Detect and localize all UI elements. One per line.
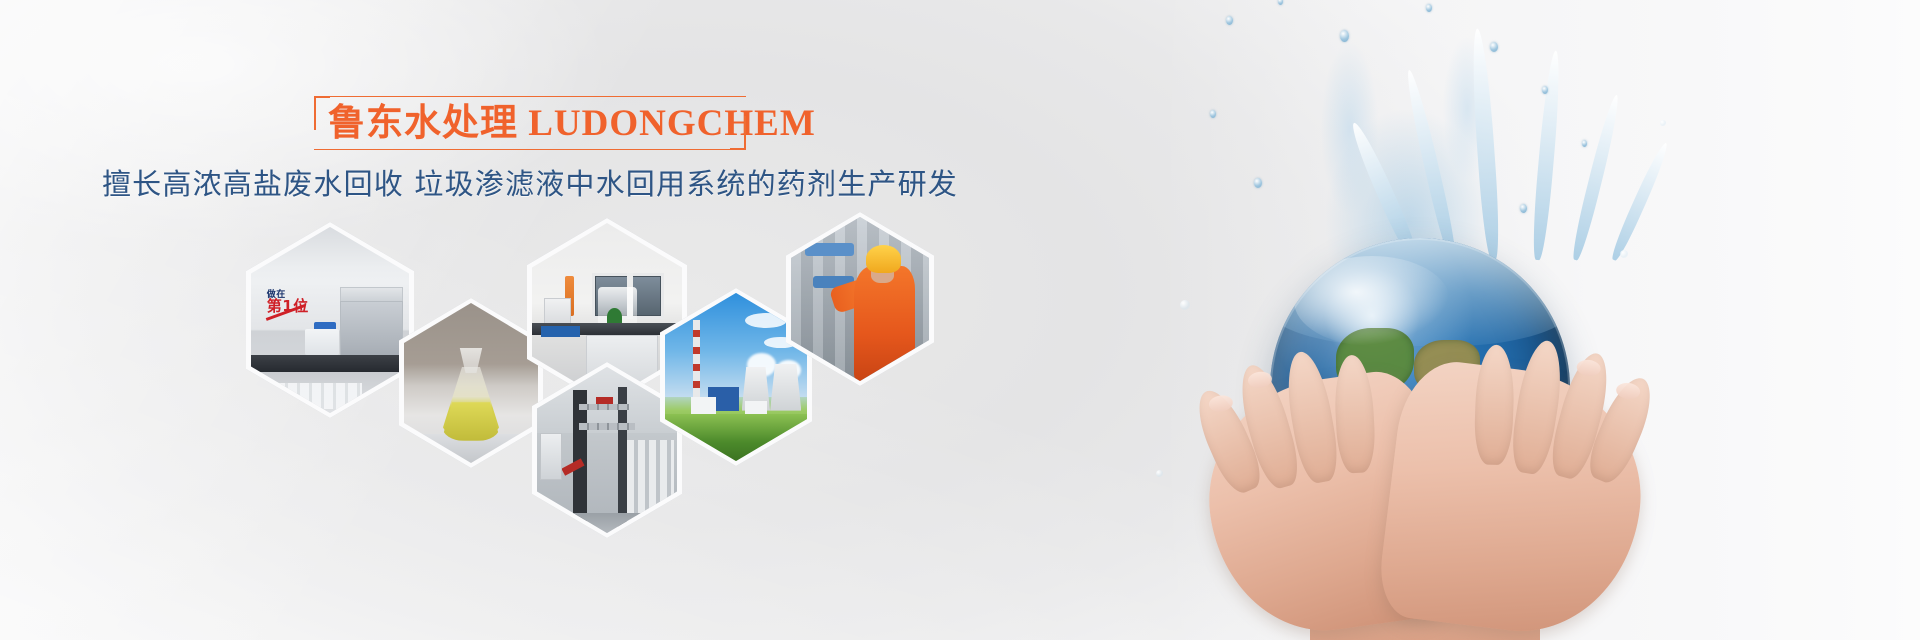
bubble (1180, 300, 1190, 310)
red-valve-shape (596, 397, 613, 404)
ceiling-shape (251, 227, 409, 268)
splash-finger (1402, 68, 1460, 261)
worker-coverall-shape (854, 266, 915, 381)
white-instrument-shape (305, 329, 340, 355)
page-title: 鲁东水处理 LUDONGCHEM (328, 102, 732, 146)
white-building-shape (691, 397, 717, 414)
bracket-bottom-right-icon (730, 116, 746, 150)
pipe-run-shape (579, 404, 629, 411)
safety-helmet-shape (866, 245, 902, 273)
title-frame-bottom-rule (314, 149, 732, 150)
bracket-top-left-icon (314, 96, 330, 130)
water-droplet (1520, 204, 1527, 213)
control-panel-shape (540, 433, 562, 479)
hero-banner: 鲁东水处理 LUDONGCHEM 擅长高浓高盐废水回收 垃圾渗滤液中水回用系统的… (0, 0, 1920, 640)
title-frame-top-rule (328, 96, 746, 97)
hex-tile-laboratory-room[interactable]: 做在 第1位 (246, 222, 414, 418)
banner-text-block: 鲁东水处理 LUDONGCHEM 擅长高浓高盐废水回收 垃圾渗滤液中水回用系统的… (0, 96, 1060, 204)
hands-water-globe-illustration (1060, 0, 1920, 640)
water-droplet (1210, 110, 1216, 118)
splash-finger (1609, 141, 1672, 263)
wall-slogan: 做在 第1位 (267, 290, 343, 327)
membrane-vessels-shape (627, 440, 675, 516)
splash-finger (1569, 93, 1623, 261)
water-droplet (1490, 42, 1498, 52)
banner-subtitle: 擅长高浓高盐废水回收 垃圾渗滤液中水回用系统的药剂生产研发 (0, 164, 1060, 204)
lab-bench-shape (251, 355, 409, 372)
bubble (1660, 120, 1666, 126)
water-droplet (1426, 4, 1432, 12)
splash-crown (1390, 10, 1670, 260)
splash-finger (1469, 28, 1502, 261)
blue-cabinet-shape (541, 326, 580, 337)
right-hand (1375, 356, 1655, 640)
banner-title-frame: 鲁东水处理 LUDONGCHEM (314, 96, 746, 150)
floor-shape (537, 513, 677, 533)
water-droplet (1582, 140, 1587, 147)
wall-slogan-line2: 第1位 (267, 297, 309, 315)
bubble (1620, 250, 1628, 258)
bubble (1156, 470, 1163, 477)
white-building-shape (745, 401, 768, 414)
water-droplet (1340, 30, 1349, 42)
grass-field-shape (665, 414, 807, 461)
hex-tile-ro-system[interactable] (532, 362, 682, 538)
pipe-run-shape (579, 423, 635, 430)
water-droplet (1542, 86, 1548, 94)
hex-tile-flask[interactable] (399, 298, 543, 468)
water-droplet (1254, 178, 1262, 188)
finger (1333, 354, 1377, 474)
splash-finger (1530, 50, 1563, 261)
cooling-tower-shape (770, 364, 801, 411)
water-droplet (1226, 16, 1233, 25)
water-droplet (1278, 0, 1283, 5)
